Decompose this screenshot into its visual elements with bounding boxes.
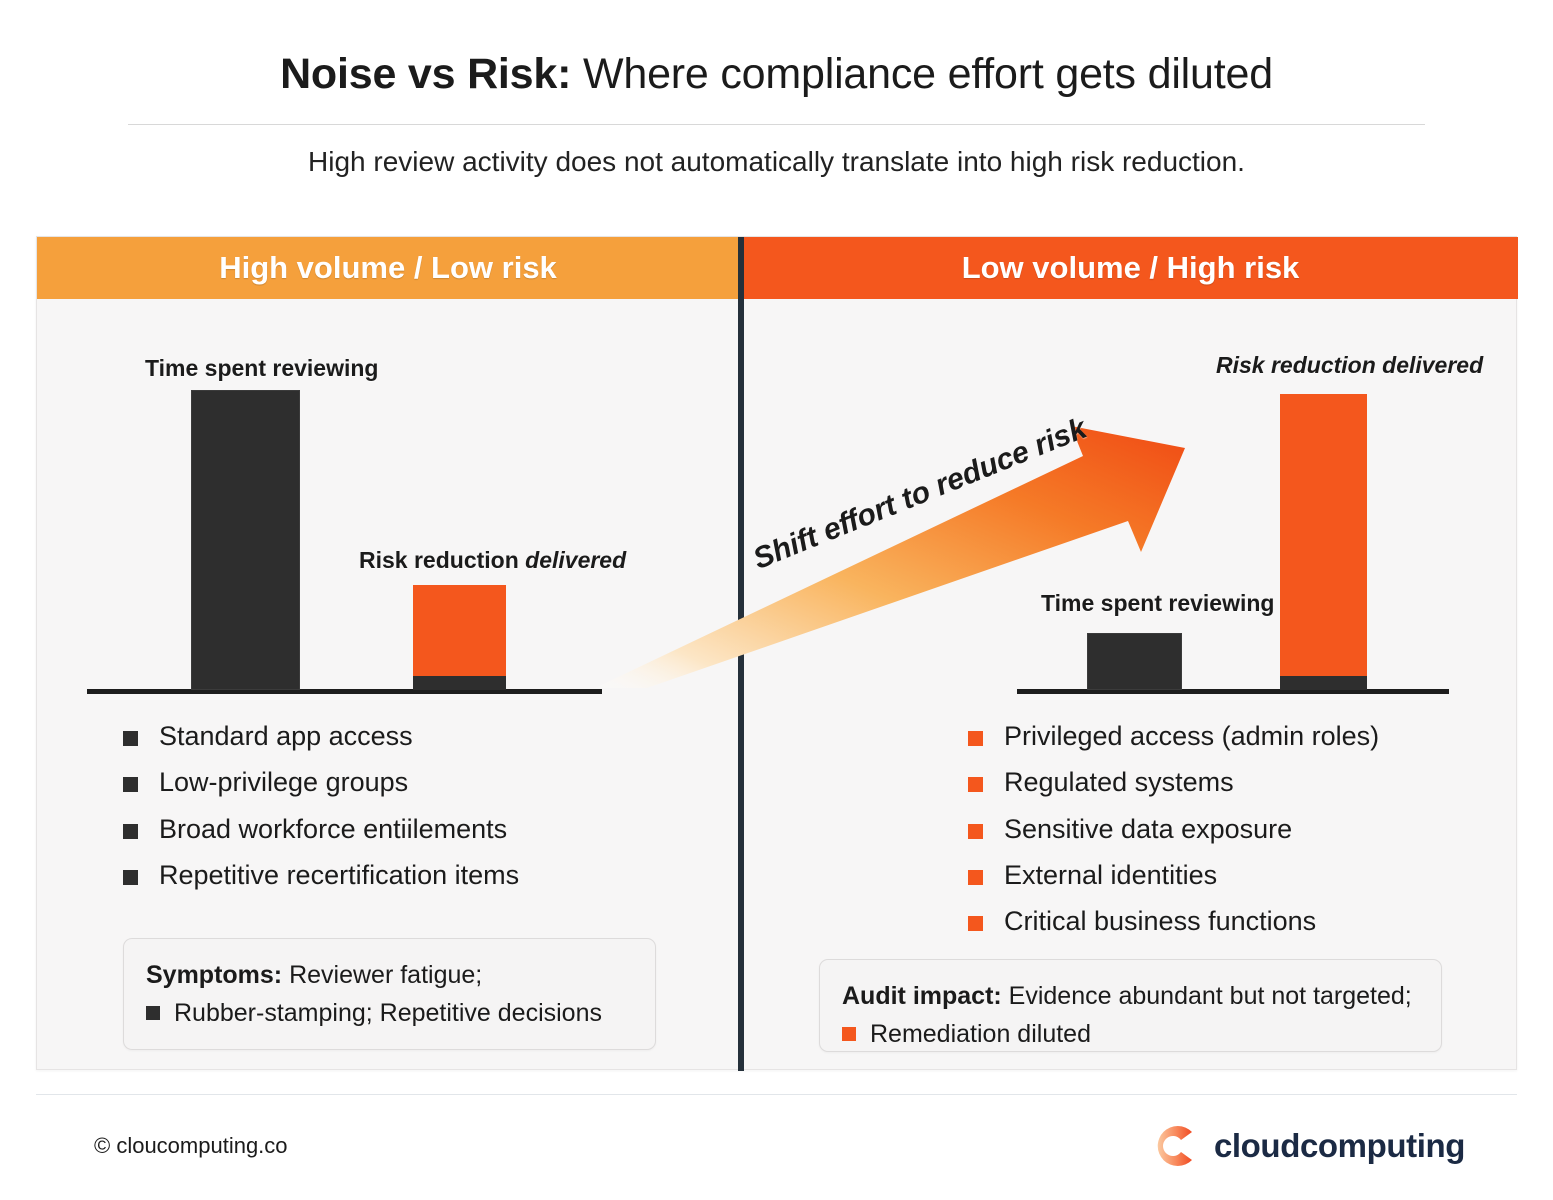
callout-symptoms-line1: Symptoms: Reviewer fatigue;	[146, 955, 635, 995]
bullet-square-icon	[123, 731, 138, 746]
chart-left-label-time: Time spent reviewing	[145, 355, 378, 382]
callout-audit-text: Evidence abundant but not targeted;	[1002, 982, 1412, 1010]
callout-audit-line1: Audit impact: Evidence abundant but not …	[842, 976, 1421, 1016]
chart-right-label-risk: Risk reduction delivered	[1216, 352, 1483, 379]
footer-divider	[36, 1094, 1517, 1095]
title-divider	[128, 124, 1425, 125]
list-item-label: Broad workforce entiilements	[159, 814, 507, 844]
list-item-label: Repetitive recertification items	[159, 860, 519, 890]
list-item: Low-privilege groups	[123, 768, 519, 796]
list-item: Critical business functions	[968, 907, 1379, 935]
chart-left-bar-time	[191, 390, 300, 690]
chart-left-baseline	[87, 689, 602, 694]
bullet-square-icon	[146, 1006, 160, 1020]
bullet-square-icon	[968, 731, 983, 746]
bullet-square-icon	[123, 777, 138, 792]
chart-right-label-time: Time spent reviewing	[1041, 590, 1274, 617]
callout-symptoms-line2-label: Rubber-stamping; Repetitive decisions	[174, 999, 602, 1027]
copyright-text: © cloucomputing.co	[94, 1133, 288, 1159]
chart-right: Time spent reviewing Risk reduction deli…	[744, 299, 1518, 699]
list-item-label: Privileged access (admin roles)	[1004, 721, 1379, 751]
brand-logo: cloudcomputing	[1148, 1120, 1465, 1172]
callout-symptoms: Symptoms: Reviewer fatigue; Rubber-stamp…	[123, 938, 656, 1050]
list-item-label: External identities	[1004, 860, 1217, 890]
chart-left-bar-risk-base	[413, 676, 506, 690]
bullet-square-icon	[123, 824, 138, 839]
bullet-square-icon	[123, 870, 138, 885]
chart-right-baseline	[1017, 689, 1449, 694]
list-item-label: Low-privilege groups	[159, 767, 408, 797]
callout-symptoms-text: Reviewer fatigue;	[282, 961, 482, 989]
bullet-list-left: Standard app access Low-privilege groups…	[123, 722, 519, 907]
list-item: Privileged access (admin roles)	[968, 722, 1379, 750]
list-item: Sensitive data exposure	[968, 815, 1379, 843]
chart-right-bar-time	[1087, 633, 1182, 690]
list-item-label: Critical business functions	[1004, 906, 1316, 936]
bullet-list-right: Privileged access (admin roles) Regulate…	[968, 722, 1379, 954]
chart-left: Time spent reviewing Risk reduction deli…	[37, 299, 738, 699]
chart-left-label-risk-normal: Risk reduction	[359, 547, 525, 573]
list-item: External identities	[968, 861, 1379, 889]
panel-header-right: Low volume / High risk	[743, 237, 1518, 299]
list-item-label: Regulated systems	[1004, 767, 1234, 797]
chart-left-label-risk: Risk reduction delivered	[359, 547, 626, 574]
chart-left-label-risk-italic: delivered	[525, 547, 626, 573]
list-item: Broad workforce entiilements	[123, 815, 519, 843]
callout-audit-label: Audit impact:	[842, 982, 1002, 1010]
bullet-square-icon	[968, 870, 983, 885]
page-subtitle: High review activity does not automatica…	[0, 146, 1553, 178]
c-mark-icon	[1148, 1120, 1200, 1172]
page-title-rest: Where compliance effort gets diluted	[571, 50, 1273, 98]
comparison-board: High volume / Low risk Low volume / High…	[36, 236, 1517, 1070]
chart-left-bar-risk	[413, 585, 506, 690]
bullet-square-icon	[968, 777, 983, 792]
list-item: Regulated systems	[968, 768, 1379, 796]
callout-audit-line2: Remediation diluted	[842, 1016, 1421, 1054]
page-title-strong: Noise vs Risk:	[280, 50, 571, 98]
page-title: Noise vs Risk: Where compliance effort g…	[0, 50, 1553, 99]
callout-symptoms-line2: Rubber-stamping; Repetitive decisions	[146, 995, 635, 1033]
chart-right-bar-risk-base	[1280, 676, 1367, 690]
panel-header-left: High volume / Low risk	[37, 237, 739, 299]
brand-name: cloudcomputing	[1214, 1127, 1465, 1165]
bullet-square-icon	[968, 824, 983, 839]
callout-audit-line2-label: Remediation diluted	[870, 1020, 1091, 1048]
bullet-square-icon	[842, 1027, 856, 1041]
callout-audit-impact: Audit impact: Evidence abundant but not …	[819, 959, 1442, 1052]
list-item: Standard app access	[123, 722, 519, 750]
list-item-label: Sensitive data exposure	[1004, 814, 1292, 844]
list-item: Repetitive recertification items	[123, 861, 519, 889]
bullet-square-icon	[968, 916, 983, 931]
callout-symptoms-label: Symptoms:	[146, 961, 282, 989]
chart-right-bar-risk	[1280, 394, 1367, 690]
list-item-label: Standard app access	[159, 721, 413, 751]
